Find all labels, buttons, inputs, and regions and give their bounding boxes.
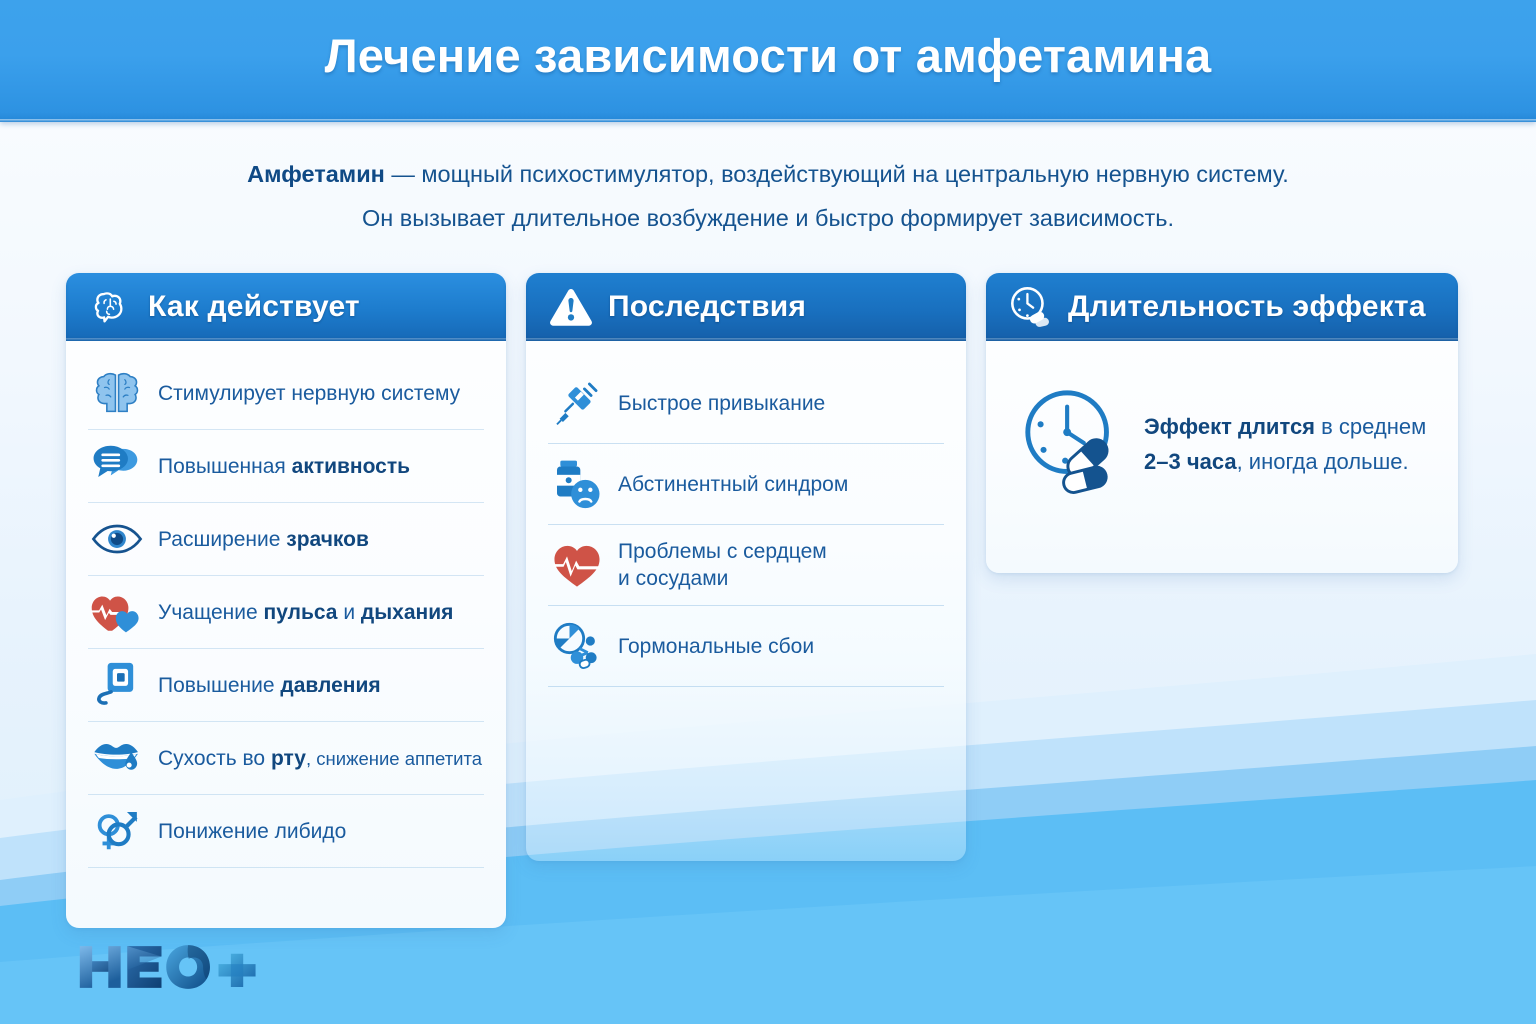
hearts-pulse-icon	[88, 586, 146, 638]
card-effect-duration[interactable]: Длительность эффекта	[986, 273, 1458, 573]
list-item[interactable]: Гормональные сбои	[548, 606, 944, 687]
page-title: Лечение зависимости от амфетамина	[0, 28, 1536, 83]
card-header-how-it-works: Как действует	[66, 273, 506, 341]
list-item[interactable]: Расширение зрачков	[88, 503, 484, 576]
intro-line-2: Он вызывает длительное возбуждение и быс…	[0, 196, 1536, 240]
effect-duration-content: Эффект длится в среднем 2–3 часа, иногда…	[986, 341, 1458, 503]
list-item-label: Повышение давления	[158, 672, 381, 699]
infographic-poster: Лечение зависимости от амфетамина Амфета…	[0, 0, 1536, 1024]
list-item-label: Проблемы с сердцем и сосудами	[618, 538, 827, 592]
intro-line-1-rest: — мощный психостимулятор, воздействующий…	[385, 161, 1289, 187]
list-item[interactable]: Повышение давления	[88, 649, 484, 722]
effect-duration-line-1: Эффект длится в среднем	[1144, 409, 1426, 444]
hormones-molecule-icon	[548, 620, 606, 672]
card-consequences[interactable]: Последствия	[526, 273, 966, 861]
card-body-effect-duration: Эффект длится в среднем 2–3 часа, иногда…	[986, 341, 1458, 573]
card-body-consequences: Быстрое привыкание	[526, 341, 966, 861]
list-item[interactable]: Стимулирует нервную систему	[88, 357, 484, 430]
list-item-label: Стимулирует нервную систему	[158, 380, 460, 407]
list-item-label: Понижение либидо	[158, 818, 346, 845]
card-header-effect-duration: Длительность эффекта	[986, 273, 1458, 341]
page-header: Лечение зависимости от амфетамина	[0, 0, 1536, 122]
clock-pills-icon	[1008, 284, 1054, 330]
list-item[interactable]: Учащение пульса и дыхания	[88, 576, 484, 649]
list-item-label: Учащение пульса и дыхания	[158, 599, 453, 626]
list-item[interactable]: Проблемы с сердцем и сосудами	[548, 525, 944, 606]
list-item[interactable]: Абстинентный синдром	[548, 444, 944, 525]
eye-icon	[88, 513, 146, 565]
speech-bubbles-icon	[88, 440, 146, 492]
list-item-label: Абстинентный синдром	[618, 471, 848, 498]
list-item-label: Повышенная активность	[158, 453, 410, 480]
card-how-it-works[interactable]: Как действует	[66, 273, 506, 928]
list-item[interactable]: Повышенная активность	[88, 430, 484, 503]
intro-paragraph: Амфетамин — мощный психостимулятор, возд…	[0, 152, 1536, 240]
warning-triangle-icon	[548, 284, 594, 330]
list-item[interactable]: Понижение либидо	[88, 795, 484, 868]
intro-line-1: Амфетамин — мощный психостимулятор, возд…	[0, 152, 1536, 196]
list-item-label: Расширение зрачков	[158, 526, 369, 553]
list-item-label: Гормональные сбои	[618, 633, 814, 660]
intro-keyword: Амфетамин	[247, 161, 385, 187]
effect-duration-text: Эффект длится в среднем 2–3 часа, иногда…	[1144, 409, 1426, 479]
card-header-consequences: Последствия	[526, 273, 966, 341]
card-title: Как действует	[148, 290, 360, 324]
list-item[interactable]: Быстрое привыкание	[548, 363, 944, 444]
items-list-consequences: Быстрое привыкание	[526, 341, 966, 697]
neo-plus-logo[interactable]	[76, 938, 266, 996]
brain-icon	[88, 284, 134, 330]
gender-symbols-icon	[88, 805, 146, 857]
lips-drop-icon	[88, 732, 146, 784]
list-item-label: Сухость во рту, снижение аппетита	[158, 745, 482, 772]
card-title: Длительность эффекта	[1068, 290, 1426, 324]
effect-duration-line-2: 2–3 часа, иногда дольше.	[1144, 444, 1426, 479]
items-list-how-it-works: Стимулирует нервную систему	[66, 341, 506, 878]
syringe-icon	[548, 377, 606, 429]
blood-pressure-monitor-icon	[88, 659, 146, 711]
list-item[interactable]: Сухость во рту, снижение аппетита	[88, 722, 484, 795]
brain-icon	[88, 367, 146, 419]
list-item-label: Быстрое привыкание	[618, 390, 825, 417]
card-title: Последствия	[608, 290, 806, 324]
heart-pulse-icon	[548, 539, 606, 591]
pill-bottle-sad-face-icon	[548, 458, 606, 510]
clock-pills-large-icon	[1016, 385, 1136, 503]
card-body-how-it-works: Стимулирует нервную систему	[66, 341, 506, 928]
